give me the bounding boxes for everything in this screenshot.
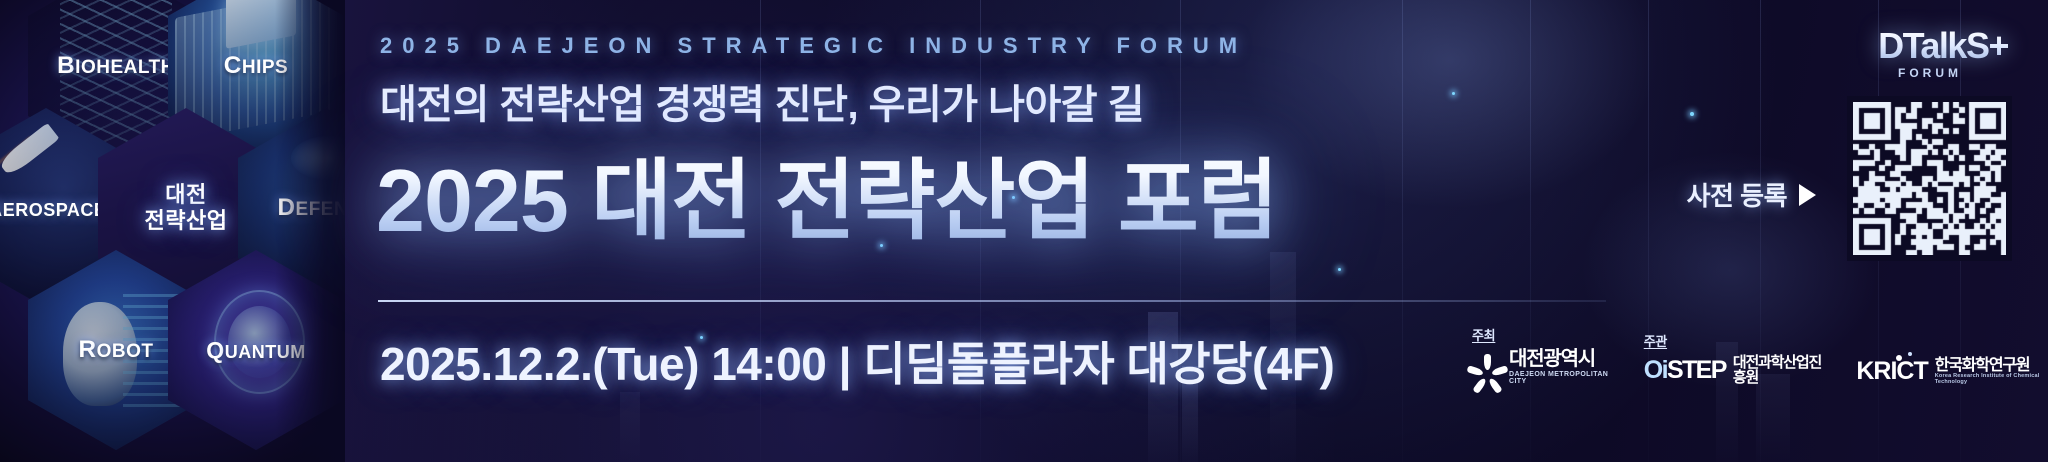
dtalks-wordmark: DTalkS+ (1878, 28, 2008, 64)
page-title: 2025 대전 전략산업 포럼 (376, 130, 1278, 257)
banner-content: 2025 DAEJEON STRATEGIC INDUSTRY FORUM 대전… (372, 0, 2048, 462)
organizer-name-kr-oistep: 대전과학산업진흥원 (1733, 355, 1823, 385)
divider (378, 300, 1606, 302)
organizer-name-kr-daejeon: 대전광역시 (1509, 349, 1610, 369)
krict-wordmark: KRICT (1856, 359, 1927, 384)
hex-label-biohealth: BIOHEALTH (57, 52, 175, 80)
subtitle-text: 대전의 전략산업 경쟁력 진단, 우리가 나아갈 길 (380, 72, 1144, 130)
eyebrow-text: 2025 DAEJEON STRATEGIC INDUSTRY FORUM (380, 33, 1247, 59)
daejeon-emblem-icon (1472, 352, 1502, 382)
hex-label-defense: DEFENSE (277, 194, 345, 222)
hex-label-aerospace: AEROSPACE (0, 195, 106, 222)
organizer-role-label-manage: 주관 (1644, 331, 1823, 350)
pre-registration-cta[interactable]: 사전 등록 (1687, 176, 1816, 213)
qr-code[interactable] (1847, 96, 2012, 261)
dtalks-wordmark-sub: FORUM (1878, 66, 1962, 80)
organizer-krict: KRICT 한국화학연구원 Korea Research Institute o… (1856, 353, 2048, 385)
oistep-wordmark: OiSTEP (1644, 358, 1726, 383)
pre-registration-label: 사전 등록 (1687, 176, 1787, 213)
hex-label-core: 대전전략산업 (145, 182, 228, 234)
organizer-logos: 주최 대전광역시 DAEJEON METROPOLITAN CITY 주관 Oi… (1472, 325, 2048, 385)
organizer-name-en-daejeon: DAEJEON METROPOLITAN CITY (1509, 371, 1610, 385)
datetime-venue-text: 2025.12.2.(Tue) 14:00 | 디딤돌플라자 대강당(4F) (380, 328, 1334, 394)
forum-banner: BIOHEALTH CHIPS AEROSPACE 대전전략산업 DEFENSE (0, 0, 2048, 462)
hex-label-chips: CHIPS (224, 52, 288, 80)
organizer-host: 주최 대전광역시 DAEJEON METROPOLITAN CITY (1472, 325, 1610, 385)
hex-label-robot: ROBOT (79, 336, 154, 364)
organizer-role-label-host: 주최 (1472, 325, 1610, 344)
hex-label-quantum: QUANTUM (206, 337, 305, 364)
dtalks-logo[interactable]: DTalkS+ FORUM (1878, 28, 2008, 80)
play-triangle-icon (1799, 184, 1816, 206)
industry-hexagon-collage: BIOHEALTH CHIPS AEROSPACE 대전전략산업 DEFENSE (0, 0, 345, 462)
organizer-name-en-krict: Korea Research Institute of Chemical Tec… (1935, 374, 2048, 385)
organizer-manage: 주관 OiSTEP 대전과학산업진흥원 (1644, 331, 1823, 385)
organizer-name-kr-krict: 한국화학연구원 (1935, 358, 2048, 374)
